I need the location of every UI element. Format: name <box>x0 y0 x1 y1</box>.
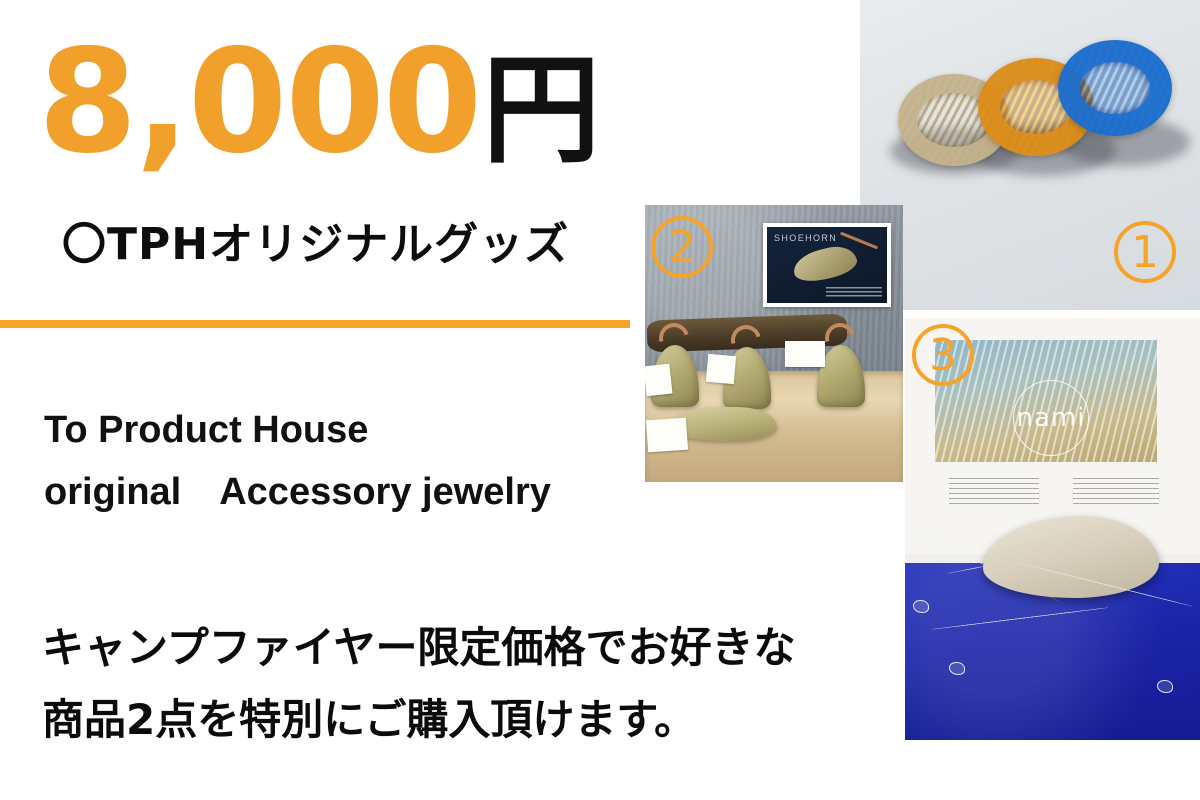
price-currency-symbol: 円 <box>482 51 600 169</box>
card-caption-left <box>949 478 1039 504</box>
necklace-pendant <box>913 600 929 613</box>
poster-shoehorn-shape <box>790 242 859 287</box>
promo-line-2: 商品2点を特別にご購入頂けます。 <box>42 684 912 756</box>
price-tag <box>785 341 825 367</box>
shoehorn-poster: SHOEHORN <box>763 223 891 307</box>
brand-line-2: original Accessory jewelry <box>44 462 684 524</box>
resin-ring-blue <box>1058 40 1172 136</box>
orange-divider <box>0 320 630 328</box>
photo-number-badge-3: 3 <box>912 324 974 386</box>
poster-title: SHOEHORN <box>774 233 837 243</box>
photo-number-badge-2: 2 <box>651 216 713 278</box>
brand-block: To Product House original Accessory jewe… <box>44 400 684 523</box>
price-headline: 8,000 円 <box>38 30 600 173</box>
promo-block: キャンプファイヤー限定価格でお好きな 商品2点を特別にご購入頂けます。 <box>42 612 912 756</box>
poster-caption-text <box>826 287 882 299</box>
price-tag <box>706 354 736 384</box>
photo-number-badge-1: 1 <box>1114 221 1176 283</box>
poster-artwork: SHOEHORN <box>767 227 887 303</box>
nami-logo: nami <box>1013 380 1089 456</box>
necklace-pendant <box>1157 680 1173 693</box>
price-amount: 8,000 <box>38 30 480 173</box>
price-tag <box>646 418 688 453</box>
brand-line-1: To Product House <box>44 400 684 462</box>
poster-leather-strap <box>840 232 878 250</box>
price-tag <box>645 364 672 397</box>
card-caption-right <box>1073 478 1159 504</box>
promo-poster: 8,000 円 〇TPHオリジナルグッズ To Product House or… <box>0 0 1200 800</box>
subtitle: 〇TPHオリジナルグッズ <box>62 208 569 272</box>
promo-line-1: キャンプファイヤー限定価格でお好きな <box>42 612 912 684</box>
necklace-pendant <box>949 662 965 675</box>
